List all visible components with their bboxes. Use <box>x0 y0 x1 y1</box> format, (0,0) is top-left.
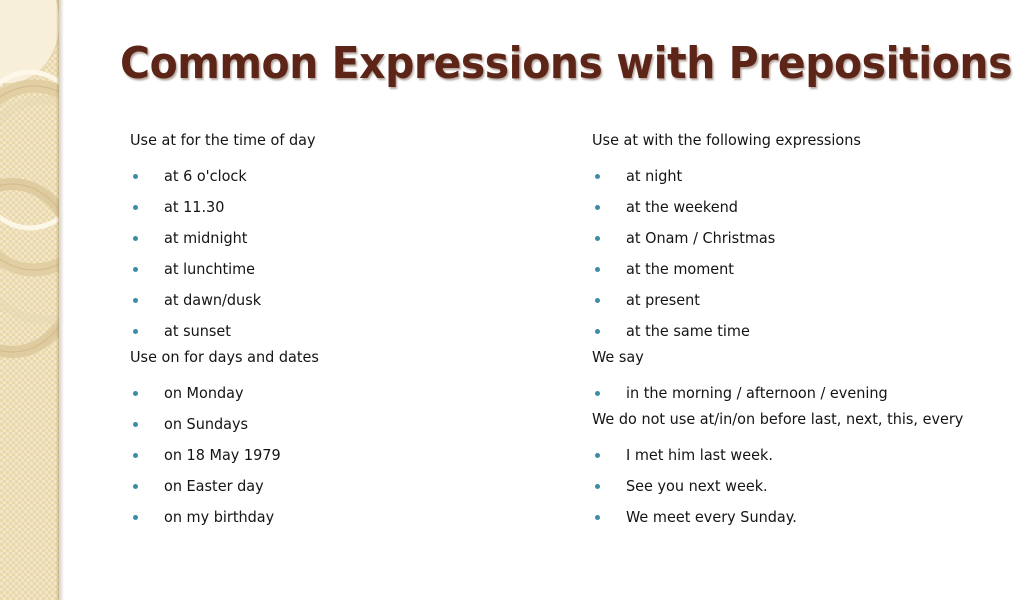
list-item-label: at dawn/dusk <box>164 285 261 316</box>
list-item: at night <box>592 161 1012 192</box>
bullet-dot-icon <box>133 205 138 210</box>
slide-canvas: Common Expressions with Prepositions Use… <box>0 0 1024 600</box>
bullet-dot-icon <box>595 391 600 396</box>
bullet-list: at 6 o'clock at 11.30 at midnight at lun… <box>130 161 570 347</box>
bullet-dot-icon <box>133 515 138 520</box>
content-block: We do not use at/in/on before last, next… <box>592 409 1012 533</box>
bullet-dot-icon <box>133 391 138 396</box>
list-item-label: at the weekend <box>626 192 738 223</box>
list-item: I met him last week. <box>592 440 1012 471</box>
bullet-list: in the morning / afternoon / evening <box>592 378 1012 409</box>
list-item: at lunchtime <box>130 254 570 285</box>
bullet-dot-icon <box>595 298 600 303</box>
list-item: on Easter day <box>130 471 570 502</box>
list-item: on Sundays <box>130 409 570 440</box>
list-item-label: at sunset <box>164 316 231 347</box>
bullet-dot-icon <box>595 205 600 210</box>
list-item: on Monday <box>130 378 570 409</box>
slide-content: Use at for the time of day at 6 o'clock … <box>0 130 1024 550</box>
list-item: at dawn/dusk <box>130 285 570 316</box>
page-title: Common Expressions with Prepositions <box>120 38 920 89</box>
list-item: at the moment <box>592 254 1012 285</box>
bullet-dot-icon <box>595 267 600 272</box>
list-item-label: on Easter day <box>164 471 264 502</box>
block-header: Use at for the time of day <box>130 130 548 161</box>
list-item: at 6 o'clock <box>130 161 570 192</box>
list-item: at present <box>592 285 1012 316</box>
content-block: Use at for the time of day at 6 o'clock … <box>130 130 570 347</box>
block-header: We say <box>592 347 991 378</box>
bullet-dot-icon <box>595 515 600 520</box>
content-block: Use at with the following expressions at… <box>592 130 1012 347</box>
list-item-label: at midnight <box>164 223 247 254</box>
bullet-dot-icon <box>133 236 138 241</box>
bullet-dot-icon <box>595 174 600 179</box>
block-header: We do not use at/in/on before last, next… <box>592 409 991 440</box>
list-item: on 18 May 1979 <box>130 440 570 471</box>
list-item-label: See you next week. <box>626 471 768 502</box>
bullet-dot-icon <box>133 267 138 272</box>
bullet-dot-icon <box>133 174 138 179</box>
bullet-dot-icon <box>595 453 600 458</box>
bullet-dot-icon <box>133 422 138 427</box>
bullet-dot-icon <box>133 484 138 489</box>
list-item: on my birthday <box>130 502 570 533</box>
list-item-label: at lunchtime <box>164 254 255 285</box>
block-header: Use on for days and dates <box>130 347 548 378</box>
list-item-label: at Onam / Christmas <box>626 223 775 254</box>
list-item: See you next week. <box>592 471 1012 502</box>
list-item-label: at present <box>626 285 700 316</box>
bullet-list: at night at the weekend at Onam / Christ… <box>592 161 1012 347</box>
bullet-dot-icon <box>133 298 138 303</box>
list-item: at the same time <box>592 316 1012 347</box>
content-block: We say in the morning / afternoon / even… <box>592 347 1012 409</box>
list-item-label: at the same time <box>626 316 750 347</box>
list-item-label: We meet every Sunday. <box>626 502 797 533</box>
list-item-label: at the moment <box>626 254 734 285</box>
list-item: We meet every Sunday. <box>592 502 1012 533</box>
list-item-label: at 11.30 <box>164 192 224 223</box>
list-item-label: I met him last week. <box>626 440 773 471</box>
bullet-dot-icon <box>595 484 600 489</box>
content-column-right: Use at with the following expressions at… <box>592 130 1012 533</box>
list-item-label: in the morning / afternoon / evening <box>626 378 888 409</box>
content-block: Use on for days and dates on Monday on S… <box>130 347 570 533</box>
content-column-left: Use at for the time of day at 6 o'clock … <box>130 130 570 533</box>
list-item-label: on my birthday <box>164 502 274 533</box>
bullet-dot-icon <box>133 329 138 334</box>
bullet-list: on Monday on Sundays on 18 May 1979 on E… <box>130 378 570 533</box>
list-item: in the morning / afternoon / evening <box>592 378 1012 409</box>
bullet-dot-icon <box>595 329 600 334</box>
bullet-dot-icon <box>133 453 138 458</box>
list-item-label: at night <box>626 161 682 192</box>
list-item: at Onam / Christmas <box>592 223 1012 254</box>
list-item-label: on Monday <box>164 378 244 409</box>
list-item: at midnight <box>130 223 570 254</box>
bullet-list: I met him last week. See you next week. … <box>592 440 1012 533</box>
list-item-label: on 18 May 1979 <box>164 440 281 471</box>
list-item: at the weekend <box>592 192 1012 223</box>
bullet-dot-icon <box>595 236 600 241</box>
list-item: at 11.30 <box>130 192 570 223</box>
list-item-label: on Sundays <box>164 409 248 440</box>
list-item: at sunset <box>130 316 570 347</box>
block-header: Use at with the following expressions <box>592 130 991 161</box>
list-item-label: at 6 o'clock <box>164 161 247 192</box>
